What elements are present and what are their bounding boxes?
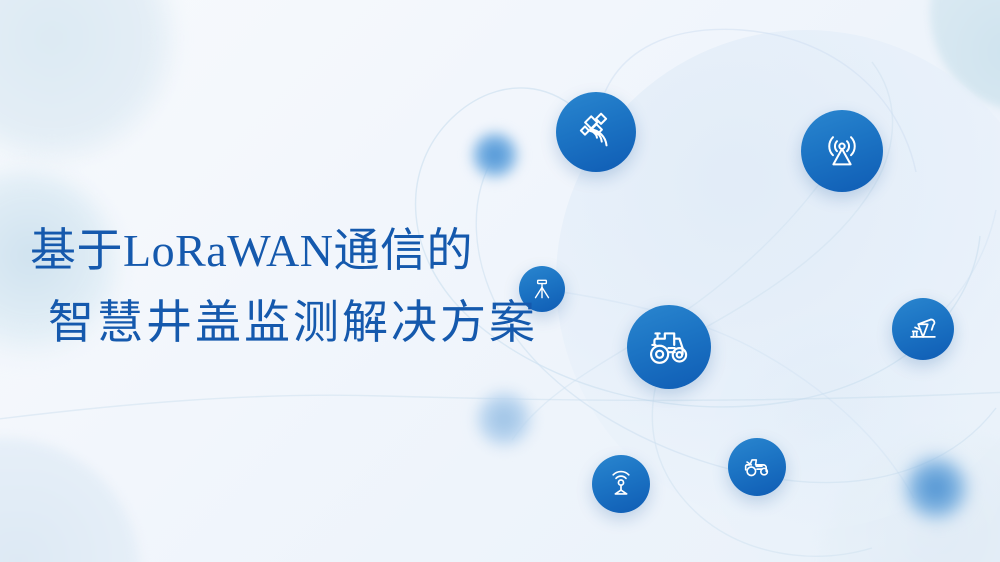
title-line-1: 基于LoRaWAN通信的 — [30, 228, 590, 274]
signal-beacon-icon — [604, 467, 638, 501]
decor-blob-top-right — [930, 0, 1000, 112]
tractor-icon — [644, 322, 694, 372]
decor-blob-top-left — [0, 0, 182, 168]
decor-blob-bottom-right — [820, 430, 1000, 562]
harvester-icon — [740, 450, 774, 484]
node-antenna[interactable] — [801, 110, 883, 192]
oil-pumpjack-icon — [904, 310, 942, 348]
title-block: 基于LoRaWAN通信的 智慧井盖监测解决方案 — [30, 228, 590, 346]
slide-canvas: 基于LoRaWAN通信的 智慧井盖监测解决方案 — [0, 0, 1000, 562]
node-beacon[interactable] — [592, 455, 650, 513]
decor-sphere-small — [710, 300, 1000, 562]
node-harvester[interactable] — [728, 438, 786, 496]
satellite-icon — [573, 109, 619, 155]
broadcast-tower-icon — [819, 128, 865, 174]
title-line-2: 智慧井盖监测解决方案 — [48, 300, 590, 346]
decor-dot-upper-center — [468, 128, 522, 182]
node-satellite[interactable] — [556, 92, 636, 172]
node-tractor[interactable] — [627, 305, 711, 389]
decor-blob-bottom-left — [0, 438, 140, 562]
decor-dot-lower-center — [473, 388, 535, 450]
decor-dot-lower-right — [900, 452, 972, 524]
node-oilpump[interactable] — [892, 298, 954, 360]
